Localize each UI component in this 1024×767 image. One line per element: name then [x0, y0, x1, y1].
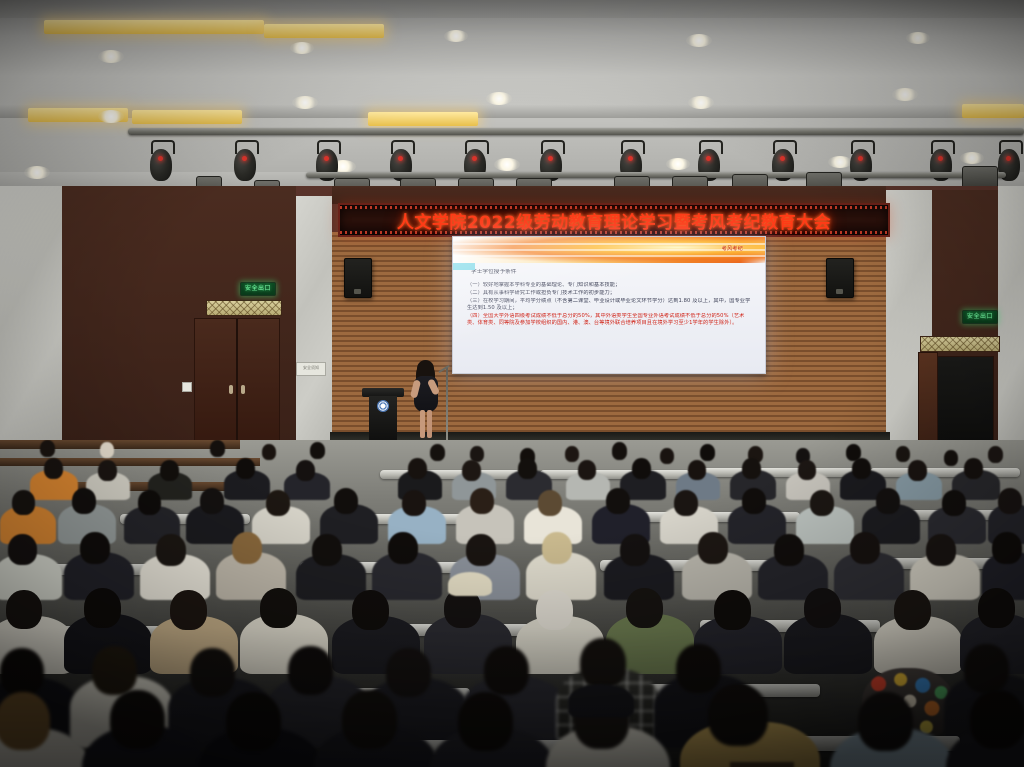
attendee-head — [334, 488, 358, 514]
attendee-head — [578, 460, 596, 480]
attendee-head — [742, 458, 761, 479]
light-switch-left[interactable] — [182, 382, 192, 392]
attendee-head — [580, 638, 626, 688]
attendee-head — [858, 692, 913, 751]
attendee-head — [388, 532, 418, 564]
slide-header-graphic: 考风考纪 — [453, 237, 765, 263]
attendee-head — [660, 448, 674, 464]
attendee-head — [742, 488, 766, 514]
ceiling-downlight — [494, 158, 520, 171]
exit-sign-text: 安全出口 — [967, 314, 993, 320]
podium — [362, 388, 404, 444]
wall-speaker-right — [826, 258, 854, 298]
wall-panel-left — [0, 186, 62, 440]
ceiling-downlight — [688, 96, 714, 109]
attendee-head — [988, 446, 1003, 463]
ceiling-downlight — [960, 152, 984, 164]
attendee-head — [402, 490, 426, 516]
attendee-head — [226, 692, 281, 751]
attendee-head — [942, 490, 966, 516]
attendee-head — [970, 690, 1024, 749]
slide-line-highlighted: （四）全国大学外语四级考试成绩不低于总分的50%，其中外语类学生全国专业外语考试… — [467, 313, 755, 327]
yellow-light-panel — [962, 104, 1024, 118]
projection-screen: 考风考纪 学士学位授予条件 （一）较好地掌握本学科专业的基础理论、专门知识和基本… — [452, 236, 766, 374]
wall-panel-right-2 — [998, 186, 1024, 444]
attendee-head — [98, 460, 117, 481]
wall-notice-plate-left: 安全须知 — [296, 362, 326, 376]
attendee-head — [8, 534, 37, 565]
seat-back — [870, 468, 1020, 477]
attendee-head — [12, 490, 35, 515]
side-door-right-open[interactable] — [918, 352, 938, 450]
attendee-head — [978, 588, 1015, 628]
attendee-head — [430, 444, 445, 461]
attendee-head — [40, 440, 55, 457]
ceiling-downlight — [98, 50, 124, 63]
attendee-head — [676, 644, 721, 693]
attendee-head — [810, 490, 834, 516]
attendee-head — [310, 442, 325, 459]
attendee-head — [798, 460, 816, 480]
attendee-head — [262, 444, 276, 460]
desk-row — [0, 440, 240, 449]
desk-row — [0, 458, 260, 466]
podium-emblem — [377, 400, 389, 412]
attendee-head — [92, 646, 137, 695]
attendee-head — [565, 446, 579, 462]
attendee-head — [110, 690, 165, 749]
attendee-head — [708, 684, 768, 746]
attendee-head — [0, 692, 50, 750]
attendee-head — [156, 534, 186, 566]
attendee-head — [852, 458, 871, 479]
attendee-head — [632, 458, 651, 479]
attendee-head — [698, 532, 728, 564]
stage-light — [232, 140, 258, 182]
attendee-head — [210, 440, 225, 457]
attendee-head — [688, 460, 706, 480]
ceiling-downlight — [444, 30, 468, 42]
attendee-head — [84, 588, 121, 628]
attendee-head — [876, 488, 900, 514]
attendee-head — [998, 488, 1022, 514]
attendee-head — [626, 588, 663, 628]
wall-panel-left-2 — [296, 196, 332, 446]
attendee-head — [0, 648, 44, 696]
slide-header-tag: 考风考纪 — [722, 245, 743, 252]
attendee-head — [160, 460, 179, 481]
attendee-head — [908, 460, 927, 481]
attendee-head — [260, 588, 297, 628]
seat-back — [540, 470, 690, 479]
attendee-head — [944, 450, 958, 466]
attendee-head — [470, 488, 494, 514]
attendee-head — [992, 532, 1022, 564]
beige-baseball-cap — [448, 572, 492, 596]
side-door-left[interactable] — [194, 318, 280, 446]
attendee-head — [700, 444, 715, 461]
attendee-head — [804, 588, 841, 628]
attendee-head — [518, 458, 537, 479]
attendee-head — [896, 446, 910, 462]
wall-speaker-left — [344, 258, 372, 298]
wood-header-band — [332, 186, 886, 204]
attendee-head — [6, 590, 42, 629]
presenter — [408, 362, 444, 446]
attendee-head — [200, 488, 224, 514]
slide-line: （二）具有从事科学研究工作或担负专门技术工作的初步能力； — [467, 290, 755, 297]
ceiling-downlight — [98, 110, 124, 123]
attendee-head — [466, 534, 496, 566]
attendee-head — [72, 488, 96, 514]
attendee-head — [674, 490, 698, 516]
attendee-head — [458, 692, 513, 751]
attendee-head — [536, 590, 573, 630]
yellow-light-panel — [44, 20, 264, 34]
attendee-head — [484, 646, 529, 695]
ceiling-downlight — [906, 32, 930, 44]
attendee-head — [266, 490, 290, 516]
shirt-graphic-patch — [730, 762, 794, 767]
ceiling-downlight — [666, 158, 690, 170]
attendee-head — [138, 490, 161, 515]
door-transom-right — [920, 336, 1000, 352]
ceiling-downlight — [290, 42, 314, 54]
attendee-head — [100, 442, 114, 458]
stage-light — [148, 140, 174, 182]
ceiling-downlight — [686, 34, 712, 47]
ceiling-downlight — [24, 166, 50, 179]
attendee-head — [542, 532, 572, 564]
attendee-head — [620, 534, 650, 566]
yellow-light-panel — [132, 110, 242, 124]
attendee-head — [714, 590, 751, 630]
black-baseball-cap — [568, 684, 634, 718]
attendee-head — [342, 690, 397, 749]
ceiling-downlight — [486, 92, 512, 105]
attendee-head — [312, 534, 342, 566]
audience-seating — [0, 440, 1024, 767]
attendee-head — [386, 648, 431, 697]
attendee-head — [964, 644, 1009, 693]
attendee-head — [606, 488, 630, 514]
ceiling-downlight — [292, 96, 318, 109]
lighting-truss-front — [128, 128, 1024, 135]
side-door-right[interactable] — [934, 356, 994, 450]
attendee-head — [352, 590, 389, 630]
exit-sign-text: 安全出口 — [245, 286, 271, 292]
attendee-head — [408, 458, 427, 479]
attendee-head — [44, 458, 63, 479]
attendee-head — [296, 460, 315, 481]
attendee-head — [236, 458, 255, 479]
slide-body: 学士学位授予条件 （一）较好地掌握本学科专业的基础理论、专门知识和基本技能； （… — [453, 263, 765, 373]
attendee-head — [170, 590, 207, 630]
yellow-light-panel — [368, 112, 478, 126]
auditorium-photo: 安全出口 安全须知 安全出口 人文学院2022级劳动教育理论学习暨考风考纪教育大… — [0, 0, 1024, 767]
ceiling-downlight — [892, 88, 918, 101]
microphone-stand — [446, 366, 448, 442]
attendee-head — [80, 532, 110, 564]
exit-sign-left: 安全出口 — [240, 282, 276, 296]
attendee-head — [232, 532, 262, 564]
attendee-head — [850, 532, 880, 564]
led-banner-text: 人文学院2022级劳动教育理论学习暨考风考纪教育大会 — [397, 208, 831, 233]
ceiling-top-band — [0, 0, 1024, 18]
attendee-head — [964, 458, 983, 479]
led-banner: 人文学院2022级劳动教育理论学习暨考风考纪教育大会 — [338, 203, 890, 237]
attendee-head — [288, 646, 333, 695]
attendee-head — [538, 490, 562, 516]
slide-line: （一）较好地掌握本学科专业的基础理论、专门知识和基本技能； — [467, 282, 755, 289]
slide-line: （三）在校学习期间，平均学分绩点（不含第二课堂、毕业设计或毕业论文环节学分）达到… — [467, 298, 755, 312]
attendee-head — [774, 534, 804, 566]
slide-accent-tab — [453, 263, 475, 270]
door-transom-left — [206, 300, 282, 316]
yellow-light-panel — [264, 24, 384, 38]
attendee-head — [894, 590, 931, 630]
attendee-head — [926, 534, 956, 566]
exit-sign-right: 安全出口 — [962, 310, 998, 324]
attendee-head — [190, 648, 235, 697]
attendee-head — [462, 460, 481, 481]
seat-back — [700, 468, 860, 477]
attendee-head — [612, 442, 627, 460]
slide-title: 学士学位授予条件 — [471, 269, 755, 276]
